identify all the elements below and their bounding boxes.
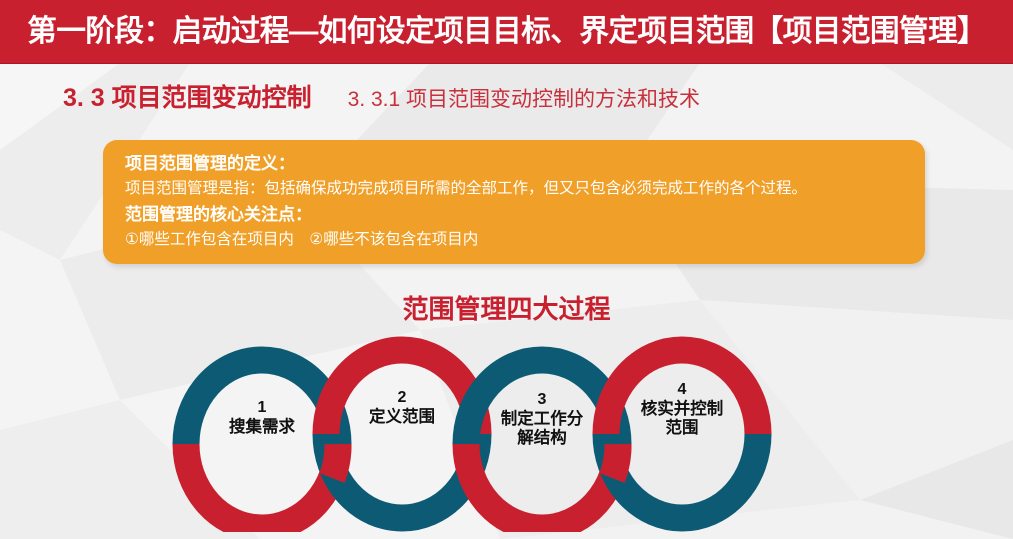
definition-heading-1: 项目范围管理的定义：	[125, 151, 925, 177]
section-number-title: 3. 3 项目范围变动控制	[63, 86, 312, 111]
process-section-heading: 范围管理四大过程	[0, 296, 1013, 322]
slide-canvas: 第一阶段：启动过程—如何设定项目目标、界定项目范围【项目范围管理】 3. 3 项…	[0, 0, 1013, 539]
ring-1-overlap-link	[332, 444, 338, 478]
process-rings-diagram: 1 搜集需求 2 定义范围 3 制定工作分 解结构 4 核实并控制 范围	[172, 336, 842, 532]
slide-header-title: 第一阶段：启动过程—如何设定项目目标、界定项目范围【项目范围管理】	[27, 17, 986, 47]
ring-3-overlap-link	[612, 444, 618, 478]
definition-body-1: 项目范围管理是指：包括确保成功完成项目所需的全部工作，但又只包含必须完成工作的各…	[125, 177, 925, 202]
definition-body-2: ①哪些工作包含在项目内 ②哪些不该包含在项目内	[125, 228, 925, 253]
definition-heading-2: 范围管理的核心关注点：	[125, 202, 925, 228]
slide-header-band: 第一阶段：启动过程—如何设定项目目标、界定项目范围【项目范围管理】	[0, 0, 1013, 63]
definition-card: 项目范围管理的定义： 项目范围管理是指：包括确保成功完成项目所需的全部工作，但又…	[103, 140, 925, 264]
section-title-row: 3. 3 项目范围变动控制 3. 3.1 项目范围变动控制的方法和技术	[0, 86, 1013, 126]
subsection-title: 3. 3.1 项目范围变动控制的方法和技术	[348, 89, 700, 110]
process-rings-svg	[172, 336, 842, 532]
